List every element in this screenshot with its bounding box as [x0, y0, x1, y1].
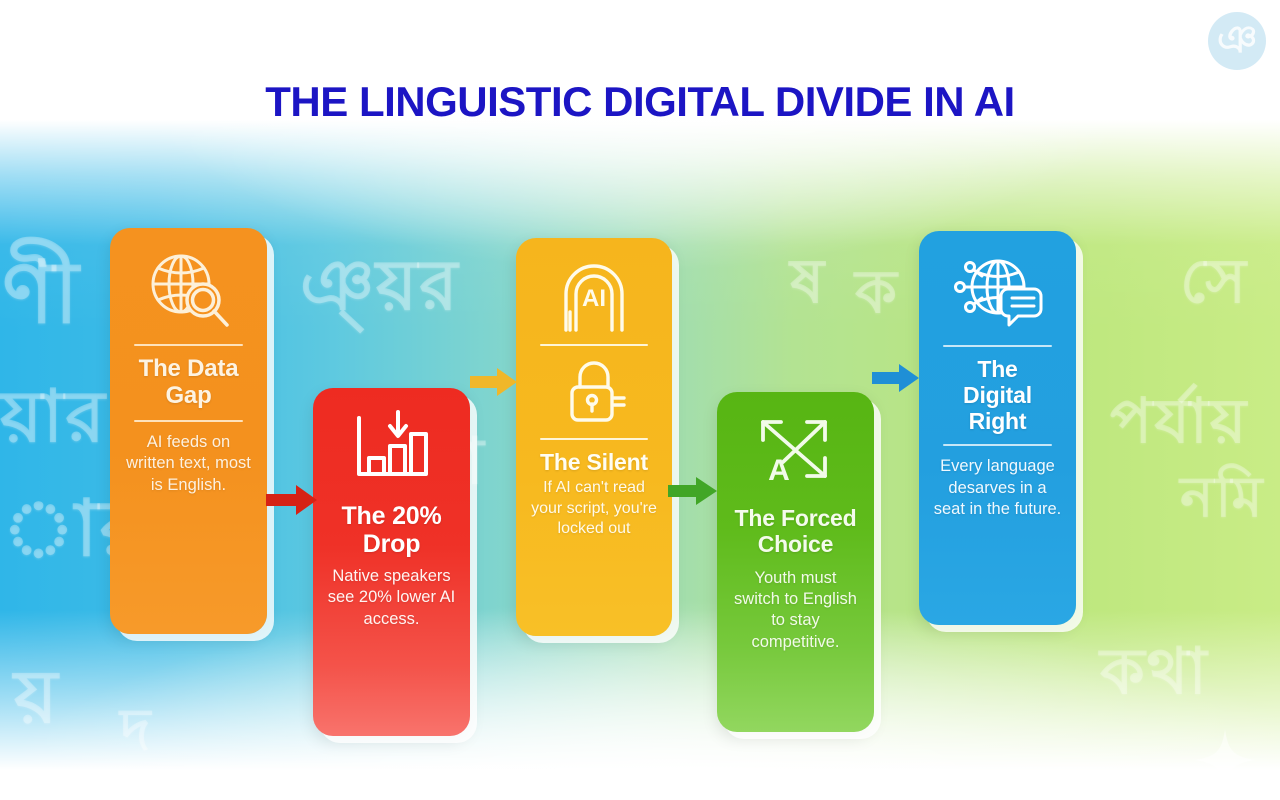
- arrow-data-gap-to-20-drop: [266, 483, 318, 517]
- card-forced-choice-title-line1: The Forced: [735, 506, 857, 532]
- page-title: THE LINGUISTIC DIGITAL DIVIDE IN AI: [0, 78, 1280, 126]
- brand-logo-watermark: ঞ: [1208, 12, 1266, 70]
- arrow-forced-choice-to-digital-right: [872, 362, 920, 394]
- ai-arch-label: AI: [582, 285, 606, 312]
- card-digital-right-divider-top: [943, 345, 1051, 347]
- card-silent-lock-icon-wrap: [530, 356, 658, 428]
- brand-logo-glyph: ঞ: [1217, 20, 1257, 58]
- card-data-gap-divider-top: [134, 344, 242, 346]
- infographic-canvas: ণীয়ারারয়ঞ্য়রষাষকসেপর্যায়কথানমিদ ঞ TH…: [0, 0, 1280, 800]
- card-20-drop-title-line1: The 20%: [341, 502, 441, 530]
- card-digital-right[interactable]: The Digital Right Every language desarve…: [919, 231, 1076, 625]
- arrow-silent-to-forced-choice: [668, 475, 718, 507]
- card-data-gap-icon-wrap: [124, 250, 253, 334]
- card-digital-right-title-line1: The: [933, 357, 1062, 383]
- card-silent-title: The Silent: [540, 450, 648, 476]
- card-digital-right-body: Every language desarves in a seat in the…: [933, 456, 1062, 520]
- card-20-drop-body: Native speakers see 20% lower AI access.: [327, 566, 456, 630]
- card-data-gap-title-line1: The Data: [139, 356, 239, 383]
- ai-arch-icon: AI: [554, 260, 634, 334]
- globe-magnifier-icon: [143, 250, 235, 334]
- card-20-drop[interactable]: The 20% Drop Native speakers see 20% low…: [313, 388, 470, 736]
- card-data-gap-body: AI feeds on written text, most is Englis…: [124, 432, 253, 496]
- card-forced-choice-title: The Forced Choice: [735, 506, 857, 558]
- card-digital-right-title: The Digital Right: [933, 357, 1062, 434]
- card-20-drop-icon-wrap: [327, 410, 456, 488]
- card-digital-right-title-line2: Digital Right: [933, 383, 1062, 435]
- crossing-arrows-letter-a-icon: A: [753, 414, 839, 494]
- card-digital-right-divider-bottom: [943, 444, 1051, 446]
- card-silent-divider-1: [540, 344, 648, 346]
- card-data-gap-divider-bottom: [134, 420, 242, 422]
- forced-choice-letter-a: A: [768, 454, 790, 487]
- card-data-gap-title-line2: Gap: [139, 383, 239, 410]
- card-data-gap-title: The Data Gap: [139, 356, 239, 410]
- card-data-gap[interactable]: The Data Gap AI feeds on written text, m…: [110, 228, 267, 634]
- card-forced-choice-title-line2: Choice: [735, 532, 857, 558]
- card-silent[interactable]: AI The Silent If AI can't read your scri…: [516, 238, 672, 636]
- card-20-drop-title: The 20% Drop: [341, 502, 441, 558]
- card-digital-right-icon-wrap: [933, 253, 1062, 335]
- card-forced-choice-body: Youth must switch to English to stay com…: [731, 568, 860, 654]
- globe-speech-bubble-icon: [952, 253, 1044, 335]
- card-silent-icon-wrap: AI: [530, 260, 658, 334]
- card-silent-title-line1: The Silent: [540, 450, 648, 476]
- declining-bar-chart-arrow-icon: [349, 410, 435, 488]
- card-forced-choice-icon-wrap: A: [731, 414, 860, 494]
- padlock-icon: [558, 356, 630, 428]
- card-forced-choice[interactable]: A The Forced Choice Youth must switch to…: [717, 392, 874, 732]
- card-silent-body: If AI can't read your script, you're loc…: [530, 478, 658, 540]
- card-20-drop-title-line2: Drop: [341, 530, 441, 558]
- card-silent-divider-2: [540, 438, 648, 440]
- arrow-20-drop-to-silent: [470, 366, 518, 398]
